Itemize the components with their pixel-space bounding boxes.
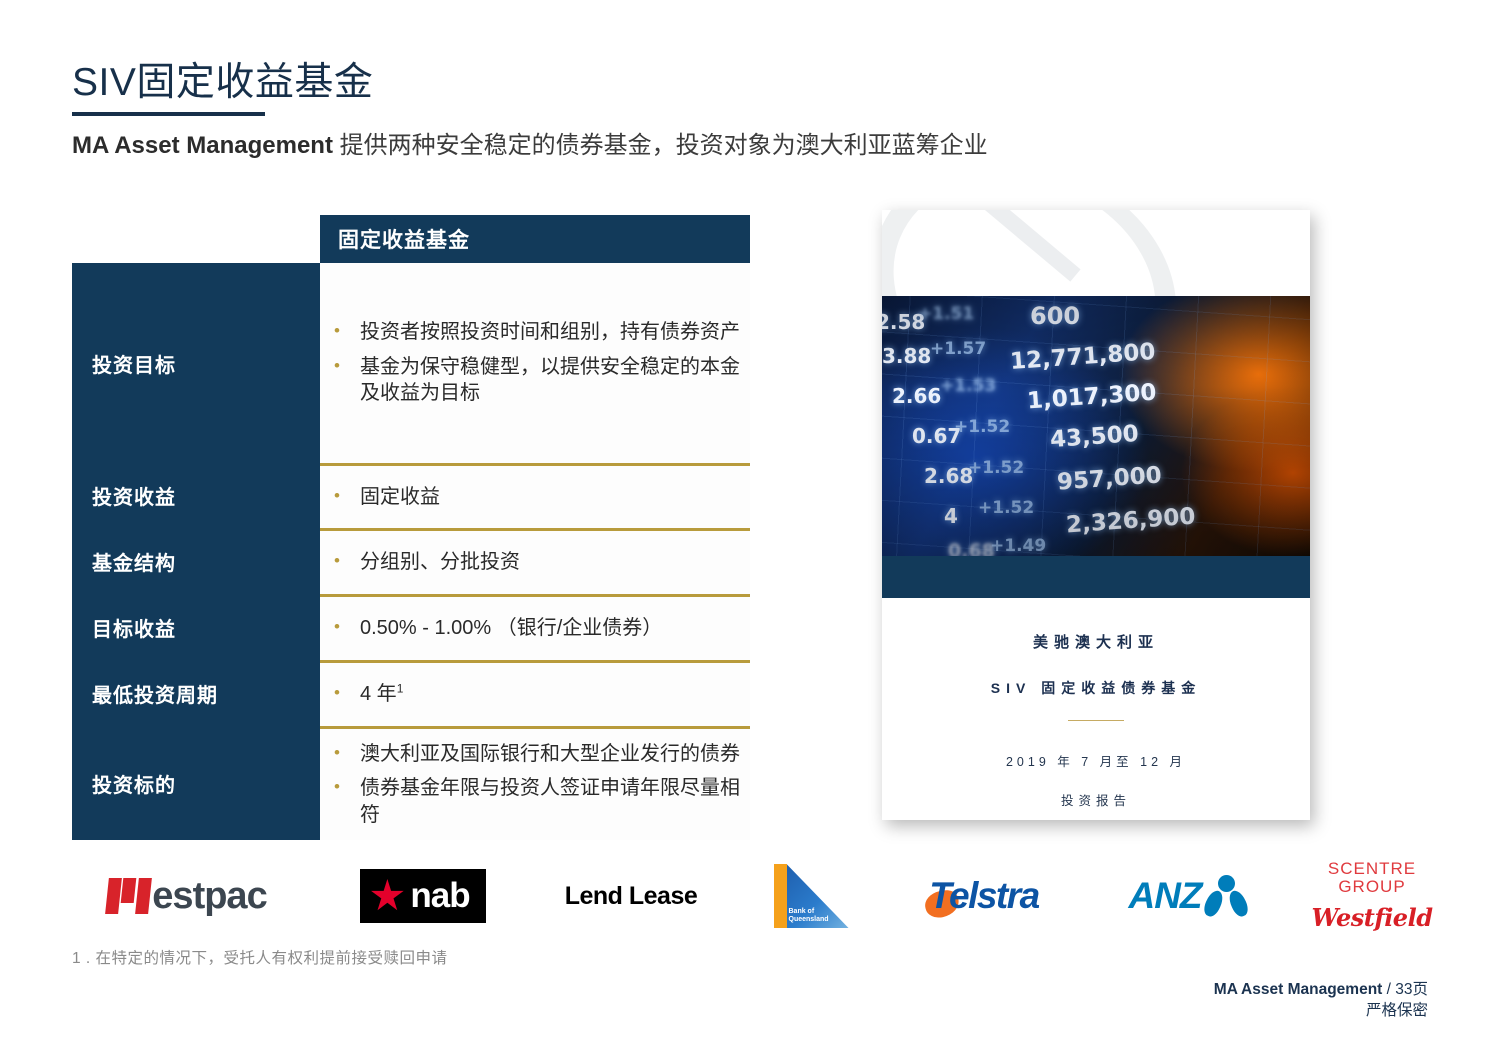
bullet-text: 澳大利亚及国际银行和大型企业发行的债券 xyxy=(360,741,740,767)
title-underline xyxy=(72,112,265,116)
row-label: 基金结构 xyxy=(72,528,320,594)
boq-label-line1: Bank of xyxy=(789,908,829,916)
westfield-label: Westfield xyxy=(1312,903,1433,932)
lend-lease-logo: Lend Lease xyxy=(565,882,698,911)
table-row: 最低投资周期 • 4 年1 xyxy=(72,660,750,726)
boq-label: Bank of Queensland xyxy=(789,908,829,924)
bullet-value: 4 年 xyxy=(360,683,397,705)
card-divider xyxy=(1068,720,1124,721)
card-text-block: 美驰澳大利亚 SIV 固定收益债券基金 2019 年 7 月至 12 月 投资报… xyxy=(882,598,1310,820)
list-item: • 固定收益 xyxy=(334,484,740,510)
scentre-logo: SCENTRE GROUP Westfield xyxy=(1312,860,1433,932)
table-row: 投资目标 • 投资者按照投资时间和组别，持有债券资产 • 基金为保守稳健型，以提… xyxy=(72,263,750,463)
logo-bank-of-queensland: Bank of Queensland xyxy=(736,852,886,940)
bullet-icon: • xyxy=(334,775,360,800)
list-item: • 澳大利亚及国际银行和大型企业发行的债券 xyxy=(334,741,740,767)
card-period: 2019 年 7 月至 12 月 xyxy=(882,751,1310,770)
bullet-text: 0.50% - 1.00% （银行/企业债券） xyxy=(360,615,740,641)
row-label: 目标收益 xyxy=(72,594,320,660)
partner-logo-strip: estpac nab Lend Lease Bank of Queensland xyxy=(72,852,1428,940)
footnote: 1 . 在特定的情况下，受托人有权利提前接受赎回申请 xyxy=(72,946,448,968)
row-content: • 澳大利亚及国际银行和大型企业发行的债券 • 债券基金年限与投资人签证申请年限… xyxy=(320,726,750,840)
stock-ticker-photo: 2.58 +1.51 600 3.88 +1.57 12,771,800 2.6… xyxy=(882,296,1310,556)
bullet-icon: • xyxy=(334,615,360,640)
logo-anz: ANZ xyxy=(1092,852,1282,940)
anz-figure-icon xyxy=(1206,875,1246,917)
footer-brand: MA Asset Management xyxy=(1214,981,1383,998)
anz-label: ANZ xyxy=(1128,875,1201,917)
table-row: 投资标的 • 澳大利亚及国际银行和大型企业发行的债券 • 债券基金年限与投资人签… xyxy=(72,726,750,840)
bullet-text: 分组别、分批投资 xyxy=(360,549,740,575)
boq-bar-icon xyxy=(774,864,787,928)
card-doc-type: 投资报告 xyxy=(882,790,1310,809)
subtitle-text: 提供两种安全稳定的债券基金，投资对象为澳大利亚蓝筹企业 xyxy=(333,132,988,159)
row-label: 投资收益 xyxy=(72,463,320,528)
boq-wedge-icon: Bank of Queensland xyxy=(787,864,849,928)
bullet-text: 基金为保守稳健型，以提供安全稳定的本金及收益为目标 xyxy=(360,354,740,407)
bullet-icon: • xyxy=(334,354,360,379)
row-content: • 固定收益 xyxy=(320,463,750,528)
list-item: • 4 年1 xyxy=(334,681,740,707)
row-content: • 0.50% - 1.00% （银行/企业债券） xyxy=(320,594,750,660)
nab-logo: nab xyxy=(360,869,485,923)
logo-telstra: Telstra xyxy=(884,852,1084,940)
scentre-line2: GROUP xyxy=(1312,878,1433,896)
westpac-w-icon xyxy=(107,878,150,914)
bullet-icon: • xyxy=(334,681,360,706)
list-item: • 债券基金年限与投资人签证申请年限尽量相符 xyxy=(334,775,740,828)
row-label: 投资目标 xyxy=(72,263,320,463)
list-item: • 投资者按照投资时间和组别，持有债券资产 xyxy=(334,319,740,345)
nab-star-icon xyxy=(370,879,404,913)
nab-label: nab xyxy=(410,876,469,916)
table-row: 基金结构 • 分组别、分批投资 xyxy=(72,528,750,594)
page-subtitle: MA Asset Management 提供两种安全稳定的债券基金，投资对象为澳… xyxy=(72,128,988,164)
table-row: 目标收益 • 0.50% - 1.00% （银行/企业债券） xyxy=(72,594,750,660)
logo-westpac: estpac xyxy=(72,852,302,940)
bullet-icon: • xyxy=(334,484,360,509)
boq-label-line2: Queensland xyxy=(789,916,829,924)
bullet-text: 固定收益 xyxy=(360,484,740,510)
telstra-logo: Telstra xyxy=(929,875,1038,917)
telstra-label: Telstra xyxy=(929,875,1038,917)
report-cover-image: 2.58 +1.51 600 3.88 +1.57 12,771,800 2.6… xyxy=(882,210,1310,820)
row-content: • 投资者按照投资时间和组别，持有债券资产 • 基金为保守稳健型，以提供安全稳定… xyxy=(320,263,750,463)
row-content: • 分组别、分批投资 xyxy=(320,528,750,594)
logo-nab: nab xyxy=(328,852,518,940)
logo-lend-lease: Lend Lease xyxy=(536,852,726,940)
bullet-icon: • xyxy=(334,549,360,574)
row-label: 最低投资周期 xyxy=(72,660,320,726)
boq-logo: Bank of Queensland xyxy=(774,864,849,928)
bullet-text: 债券基金年限与投资人签证申请年限尽量相符 xyxy=(360,775,740,828)
list-item: • 分组别、分批投资 xyxy=(334,549,740,575)
row-label: 投资标的 xyxy=(72,726,320,840)
list-item: • 0.50% - 1.00% （银行/企业债券） xyxy=(334,615,740,641)
footer-page: / 33页 xyxy=(1382,981,1428,998)
row-content: • 4 年1 xyxy=(320,660,750,726)
card-fund-name: SIV 固定收益债券基金 xyxy=(882,678,1310,698)
bullet-icon: • xyxy=(334,741,360,766)
table-row: 投资收益 • 固定收益 xyxy=(72,463,750,528)
slide-footer: MA Asset Management / 33页 严格保密 xyxy=(1214,980,1428,1022)
bullet-text: 4 年1 xyxy=(360,681,740,707)
lend-lease-label: Lend Lease xyxy=(565,882,698,911)
anz-logo: ANZ xyxy=(1128,875,1245,917)
list-item: • 基金为保守稳健型，以提供安全稳定的本金及收益为目标 xyxy=(334,354,740,407)
westpac-label: estpac xyxy=(152,875,266,918)
footer-confidential: 严格保密 xyxy=(1214,1001,1428,1022)
fund-comparison-table: 固定收益基金 投资目标 • 投资者按照投资时间和组别，持有债券资产 • 基金为保… xyxy=(72,215,750,840)
logo-scentre-group: SCENTRE GROUP Westfield xyxy=(1282,852,1462,940)
scentre-line1: SCENTRE xyxy=(1312,860,1433,878)
photo-vignette xyxy=(882,296,1310,556)
table-column-header: 固定收益基金 xyxy=(320,215,750,263)
page-title: SIV固定收益基金 xyxy=(72,62,373,105)
westpac-logo: estpac xyxy=(107,875,266,918)
card-company-name: 美驰澳大利亚 xyxy=(882,631,1310,652)
footnote-marker: 1 xyxy=(397,682,404,696)
footer-line-1: MA Asset Management / 33页 xyxy=(1214,980,1428,1001)
subtitle-brand: MA Asset Management xyxy=(72,132,333,159)
bullet-icon: • xyxy=(334,319,360,344)
card-accent-band xyxy=(882,556,1310,598)
bullet-text: 投资者按照投资时间和组别，持有债券资产 xyxy=(360,319,740,345)
